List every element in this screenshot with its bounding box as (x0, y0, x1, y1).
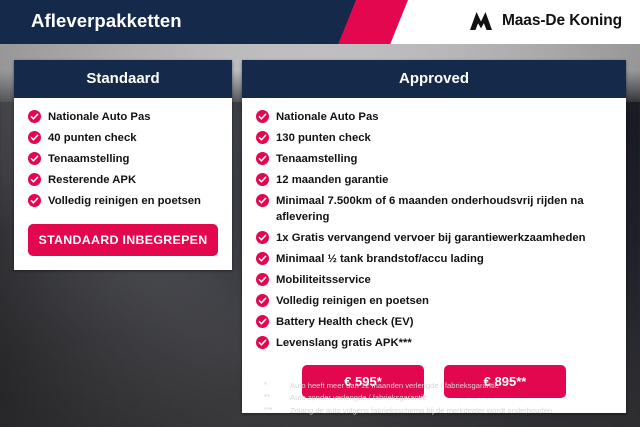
page-header: Afleverpakketten Maas-De Koning (0, 0, 640, 44)
footnote-row: *** Zolang de auto volgens fabrieksschem… (264, 405, 624, 416)
list-item: 12 maanden garantie (256, 172, 616, 188)
check-circle-icon (256, 194, 269, 207)
list-item: Mobiliteitsservice (256, 272, 616, 288)
feature-text: Minimaal ½ tank brandstof/accu lading (276, 251, 484, 267)
check-circle-icon (28, 194, 41, 207)
check-circle-icon (256, 315, 269, 328)
list-item: Tenaamstelling (28, 151, 222, 167)
feature-text: Tenaamstelling (276, 151, 357, 167)
feature-text: Levenslang gratis APK*** (276, 335, 412, 351)
list-item: Resterende APK (28, 172, 222, 188)
list-item: Volledig reinigen en poetsen (28, 193, 222, 209)
feature-text: 40 punten check (48, 130, 137, 146)
check-circle-icon (256, 131, 269, 144)
afleverpakketten-screen: Afleverpakketten Maas-De Koning Standaar… (0, 0, 640, 427)
footnote-text: Auto heeft meer dan 12 maanden verlengde… (290, 380, 499, 391)
footnote-row: * Auto heeft meer dan 12 maanden verleng… (264, 380, 624, 391)
card-body-approved: Nationale Auto Pas 130 punten check Tena… (242, 98, 626, 413)
check-circle-icon (256, 173, 269, 186)
brand-lockup: Maas-De Koning (468, 11, 622, 31)
footnote-marker: *** (264, 405, 284, 416)
package-card-standaard: Standaard Nationale Auto Pas 40 punten c… (14, 60, 232, 270)
card-title-approved: Approved (242, 60, 626, 98)
maas-de-koning-m-icon (468, 11, 494, 31)
list-item: 40 punten check (28, 130, 222, 146)
check-circle-icon (256, 294, 269, 307)
feature-text: 12 maanden garantie (276, 172, 388, 188)
feature-list-standaard: Nationale Auto Pas 40 punten check Tenaa… (14, 109, 232, 209)
list-item: 1x Gratis vervangend vervoer bij garanti… (256, 230, 616, 246)
check-circle-icon (256, 273, 269, 286)
check-circle-icon (256, 231, 269, 244)
feature-text: Volledig reinigen en poetsen (48, 193, 201, 209)
card-title-standaard: Standaard (14, 60, 232, 98)
package-card-approved: Approved Nationale Auto Pas 130 punten c… (242, 60, 626, 413)
list-item: Minimaal 7.500km of 6 maanden onderhouds… (256, 193, 616, 225)
check-circle-icon (28, 173, 41, 186)
list-item: Levenslang gratis APK*** (256, 335, 616, 351)
list-item: Nationale Auto Pas (28, 109, 222, 125)
feature-list-approved: Nationale Auto Pas 130 punten check Tena… (242, 109, 626, 351)
card-body-standaard: Nationale Auto Pas 40 punten check Tenaa… (14, 98, 232, 270)
footnotes-block: * Auto heeft meer dan 12 maanden verleng… (264, 380, 624, 417)
check-circle-icon (28, 152, 41, 165)
check-circle-icon (28, 131, 41, 144)
feature-text: Battery Health check (EV) (276, 314, 414, 330)
standaard-inbegrepen-button[interactable]: STANDAARD INBEGREPEN (28, 224, 218, 256)
feature-text: Tenaamstelling (48, 151, 129, 167)
feature-text: Mobiliteitsservice (276, 272, 371, 288)
feature-text: 1x Gratis vervangend vervoer bij garanti… (276, 230, 586, 246)
list-item: Volledig reinigen en poetsen (256, 293, 616, 309)
check-circle-icon (256, 336, 269, 349)
page-title: Afleverpakketten (31, 10, 182, 32)
list-item: Nationale Auto Pas (256, 109, 616, 125)
check-circle-icon (256, 152, 269, 165)
footnote-marker: ** (264, 392, 284, 403)
check-circle-icon (256, 252, 269, 265)
feature-text: Nationale Auto Pas (48, 109, 151, 125)
feature-text: 130 punten check (276, 130, 371, 146)
standaard-cta-wrap: STANDAARD INBEGREPEN (14, 214, 232, 258)
feature-text: Nationale Auto Pas (276, 109, 379, 125)
list-item: Tenaamstelling (256, 151, 616, 167)
footnote-row: ** Auto zonder verlengde / fabrieksgaran… (264, 392, 624, 403)
footnote-text: Auto zonder verlengde / fabrieksgarantie (290, 392, 427, 403)
feature-text: Minimaal 7.500km of 6 maanden onderhouds… (276, 193, 616, 225)
list-item: 130 punten check (256, 130, 616, 146)
list-item: Minimaal ½ tank brandstof/accu lading (256, 251, 616, 267)
check-circle-icon (28, 110, 41, 123)
list-item: Battery Health check (EV) (256, 314, 616, 330)
brand-name: Maas-De Koning (502, 12, 622, 30)
footnote-text: Zolang de auto volgens fabrieksschema bi… (290, 405, 552, 416)
footnote-marker: * (264, 380, 284, 391)
feature-text: Volledig reinigen en poetsen (276, 293, 429, 309)
check-circle-icon (256, 110, 269, 123)
feature-text: Resterende APK (48, 172, 136, 188)
